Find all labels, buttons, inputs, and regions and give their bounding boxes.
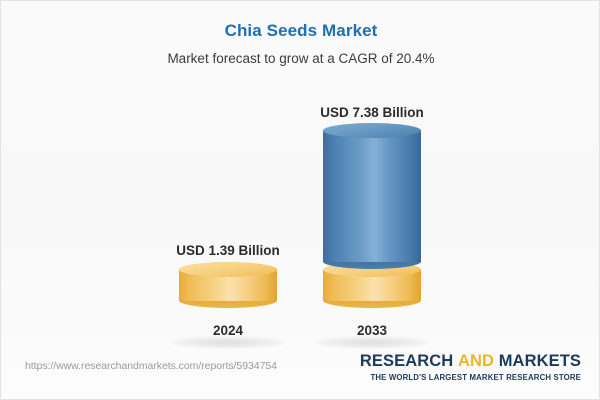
bar-cylinder-2033[interactable] xyxy=(323,123,421,269)
logo-wordmark: RESEARCH AND MARKETS xyxy=(360,352,581,371)
chart-canvas: Chia Seeds Market Market forecast to gro… xyxy=(0,0,600,400)
bar-cylinder-body-2033 xyxy=(323,130,421,262)
logo-tagline: THE WORLD'S LARGEST MARKET RESEARCH STOR… xyxy=(360,373,581,382)
bar-cylinder-cap-2024 xyxy=(179,262,277,277)
value-label-2033: USD 7.38 Billion xyxy=(272,105,472,120)
bar-cylinder-2024[interactable] xyxy=(179,262,277,308)
logo-word-research: RESEARCH xyxy=(360,352,453,370)
plot-area: USD 1.39 Billion 2024 USD 7.38 Billion xyxy=(1,1,600,346)
bar-cylinder-cap-2033 xyxy=(323,123,421,138)
source-url[interactable]: https://www.researchandmarkets.com/repor… xyxy=(25,360,277,372)
logo-word-and: AND xyxy=(458,352,494,370)
category-label-2033: 2033 xyxy=(272,323,472,338)
chart-footer: https://www.researchandmarkets.com/repor… xyxy=(1,344,600,399)
logo-word-markets: MARKETS xyxy=(499,352,581,370)
research-and-markets-logo: RESEARCH AND MARKETS THE WORLD'S LARGEST… xyxy=(360,352,581,382)
value-label-2024: USD 1.39 Billion xyxy=(128,243,328,258)
